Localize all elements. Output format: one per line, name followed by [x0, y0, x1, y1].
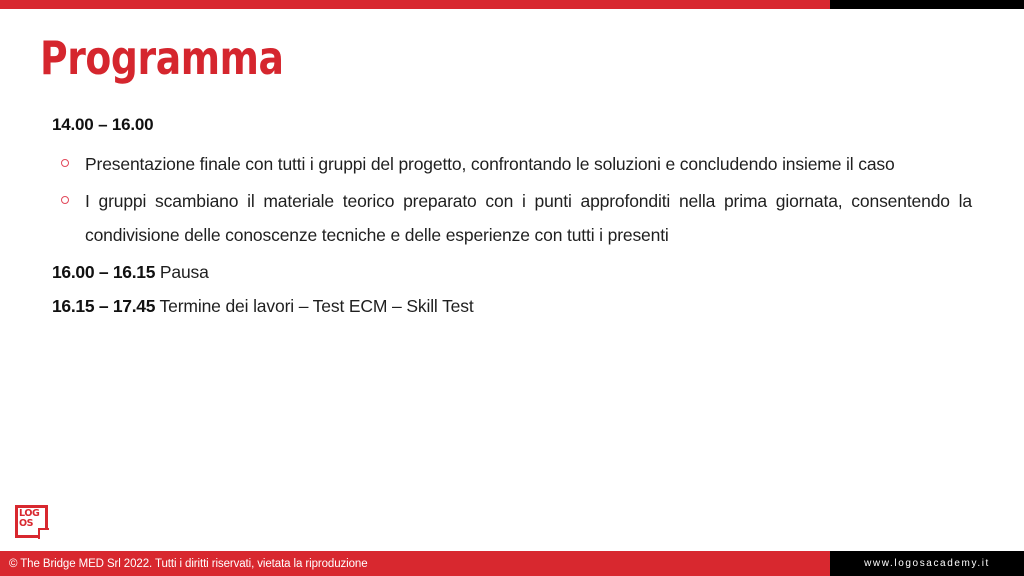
list-item-text: Presentazione finale con tutti i gruppi … [85, 154, 895, 174]
schedule-time: 16.00 – 16.15 [52, 262, 155, 282]
footer-copyright: © The Bridge MED Srl 2022. Tutti i dirit… [0, 558, 368, 570]
footer-bar: © The Bridge MED Srl 2022. Tutti i dirit… [0, 551, 1024, 576]
time-heading: 14.00 – 16.00 [52, 112, 972, 138]
footer-website-url[interactable]: www.logosacademy.it [864, 558, 990, 569]
circle-bullet-icon [61, 196, 69, 204]
list-item-text: I gruppi scambiano il materiale teorico … [85, 191, 972, 245]
slide-content: 14.00 – 16.00 Presentazione finale con t… [52, 112, 972, 323]
top-bar-black-segment [830, 0, 1024, 9]
page-title: Programma [40, 34, 284, 82]
schedule-line: 16.00 – 16.15 Pausa [52, 255, 972, 289]
logo-corner-notch [38, 528, 49, 539]
top-accent-bar [0, 0, 1024, 9]
logo-text: LOG OS [19, 509, 39, 529]
circle-bullet-icon [61, 159, 69, 167]
top-bar-red-segment [0, 0, 830, 9]
schedule-line: 16.15 – 17.45 Termine dei lavori – Test … [52, 289, 972, 323]
list-item: Presentazione finale con tutti i gruppi … [52, 147, 972, 181]
logos-logo-icon: LOG OS [15, 505, 48, 538]
schedule-text: Termine dei lavori – Test ECM – Skill Te… [155, 296, 473, 316]
footer-black-segment: www.logosacademy.it [830, 551, 1024, 576]
footer-red-segment: © The Bridge MED Srl 2022. Tutti i dirit… [0, 551, 830, 576]
list-item: I gruppi scambiano il materiale teorico … [52, 184, 972, 252]
bullet-list: Presentazione finale con tutti i gruppi … [52, 147, 972, 252]
logo-text-line2: OS [19, 519, 39, 529]
schedule-text: Pausa [155, 262, 209, 282]
schedule-time: 16.15 – 17.45 [52, 296, 155, 316]
